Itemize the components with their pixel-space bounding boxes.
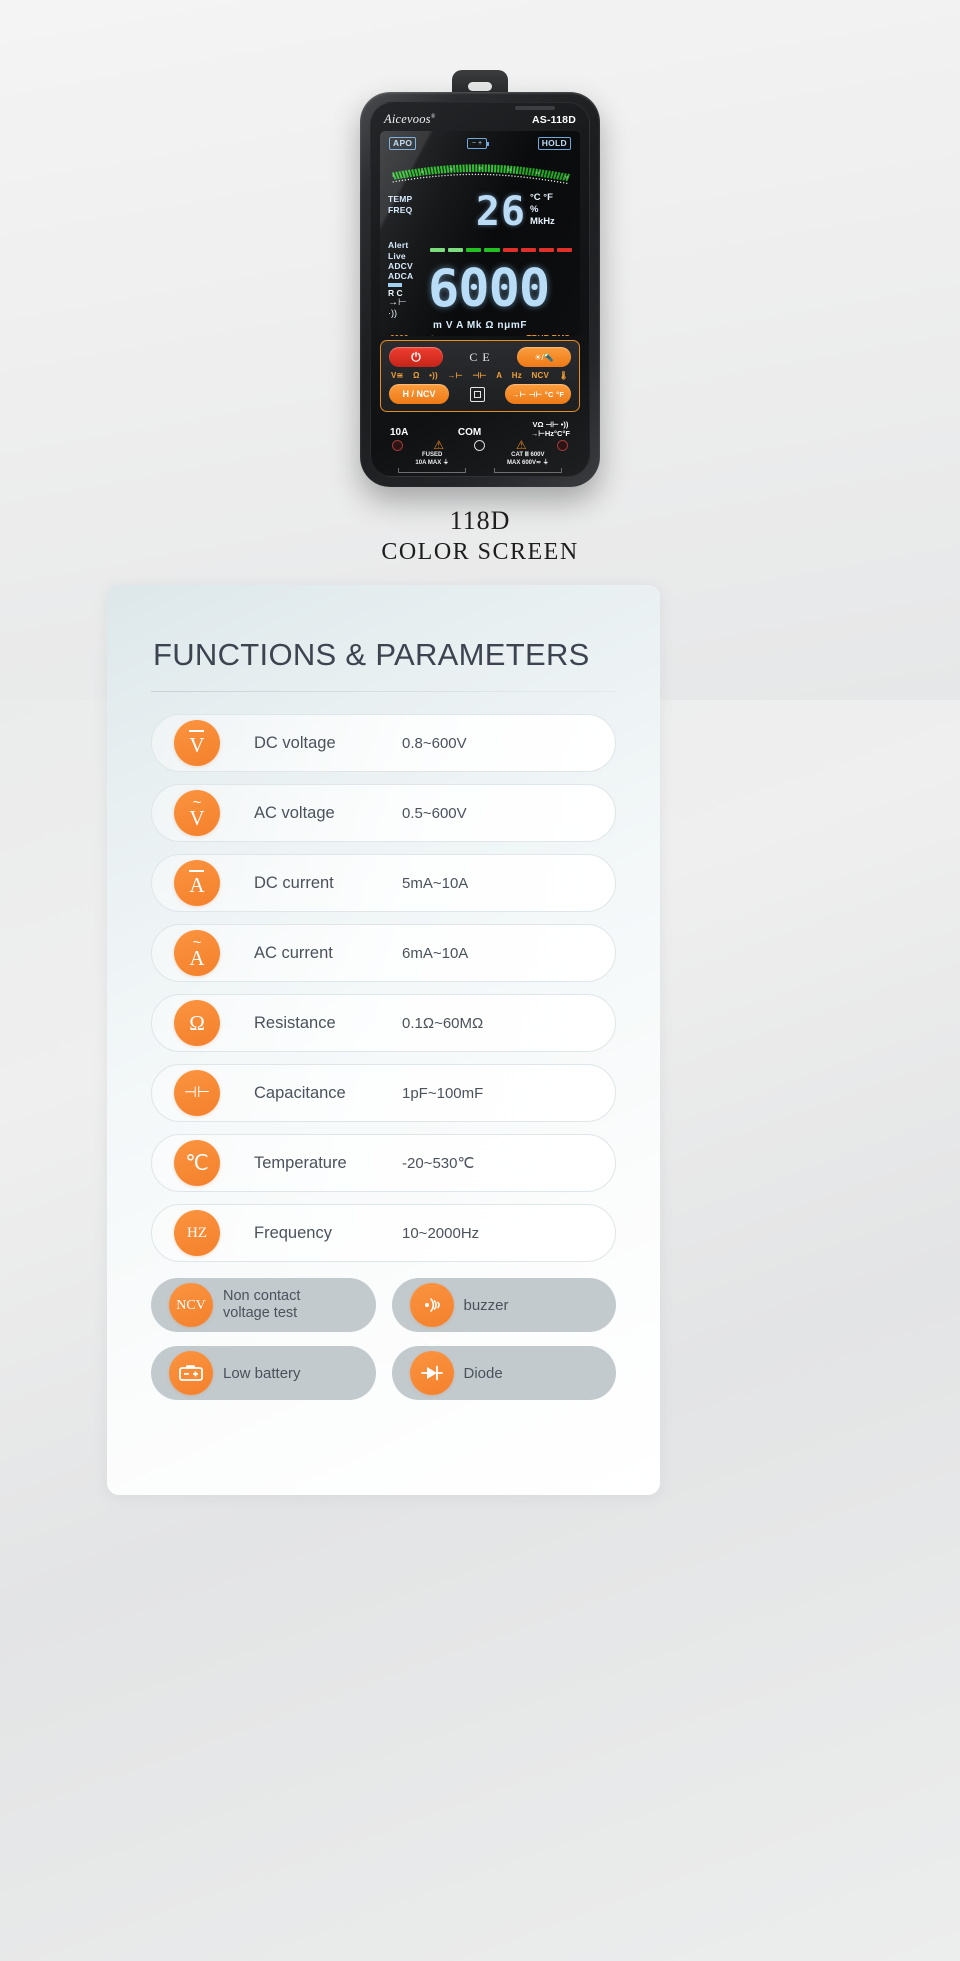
apo-badge: APO xyxy=(389,137,416,150)
function-row: ΩResistance0.1Ω~60MΩ xyxy=(151,994,616,1052)
icon-letter: V xyxy=(189,735,204,756)
jack-vohm[interactable] xyxy=(557,440,568,451)
icon-letter: A xyxy=(189,948,204,969)
function-value: 1pF~100mF xyxy=(402,1085,483,1102)
feature-chip-label: Non contactvoltage test xyxy=(223,1288,300,1322)
alert-label: Alert xyxy=(388,240,428,250)
warning-icon-left: ⚠ xyxy=(433,439,444,451)
buzzer-icon xyxy=(410,1283,454,1327)
legend-ncv: NCV xyxy=(532,371,550,380)
seg-5 xyxy=(503,248,518,252)
counts-label: 6000 counts xyxy=(390,334,438,336)
hold-badge: HOLD xyxy=(538,137,571,150)
temperature-icon: ℃ xyxy=(174,1140,220,1186)
chip-label-line-1: Non contact xyxy=(223,1288,300,1305)
seg-6 xyxy=(521,248,536,252)
freq-label: FREQ xyxy=(388,205,428,215)
feature-chip-label: buzzer xyxy=(464,1297,509,1314)
terminal-10a-label: 10A xyxy=(390,427,408,438)
feature-chip-label: Low battery xyxy=(223,1365,301,1382)
function-value: 5mA~10A xyxy=(402,875,468,892)
adcv-label: ADCV xyxy=(388,261,428,271)
capacitance-icon: ⊣⊢ xyxy=(174,1070,220,1116)
power-icon: ⏻ xyxy=(411,351,421,363)
feature-chip: Diode xyxy=(392,1346,617,1400)
adca-label: ADCA xyxy=(388,271,428,281)
bracket-right xyxy=(494,468,562,473)
warning-icon-right: ⚠ xyxy=(516,439,527,451)
bargraph-svg: 0102030405060 xyxy=(388,152,572,190)
terminal-note-left: FUSED 10A MAX ⏚ xyxy=(388,452,476,473)
select-square-button[interactable] xyxy=(470,387,485,402)
power-button[interactable]: ⏻ xyxy=(389,347,443,367)
legend-ampere: A xyxy=(496,371,502,380)
function-row: ~VAC voltage0.5~600V xyxy=(151,784,616,842)
battery-plus: + xyxy=(478,140,482,147)
max-10a-label: 10A MAX ⏚ xyxy=(388,460,476,468)
buzzer-indicator-icon: ·)) xyxy=(388,308,428,318)
square-inner-icon xyxy=(474,391,481,398)
feature-chip-grid: NCVNon contactvoltage testbuzzerLow batt… xyxy=(151,1278,616,1400)
function-name: DC voltage xyxy=(254,734,402,753)
legend-hz: Hz xyxy=(512,371,522,380)
function-value: 0.1Ω~60MΩ xyxy=(402,1015,483,1032)
frequency-icon: HZ xyxy=(174,1210,220,1256)
function-name: Temperature xyxy=(254,1154,402,1173)
resistance-icon: Ω xyxy=(174,1000,220,1046)
terminal-note-right: CAT Ⅲ 600V MAX 600V≂ ⏚ xyxy=(484,452,572,473)
function-name: AC current xyxy=(254,944,402,963)
icon-letter: NCV xyxy=(176,1295,206,1316)
rc-label: R C xyxy=(388,288,428,298)
secondary-units: °C °F % MkHz xyxy=(530,190,572,228)
terminal-com-label: COM xyxy=(458,427,481,438)
svg-text:20: 20 xyxy=(449,167,453,171)
main-reading-row: ADCV ADCA R C →⊢ ·)) 6000 xyxy=(386,261,574,319)
terminal-section: 10A COM VΩ ⊣⊢ •)) →⊢Hz°C°F ⚠ ⚠ xyxy=(380,420,580,473)
feature-chip: NCVNon contactvoltage test xyxy=(151,1278,376,1332)
function-row: ℃Temperature-20~530℃ xyxy=(151,1134,616,1192)
icon-letter: A xyxy=(189,875,204,896)
mode-button[interactable]: →⊢ ⊣⊢ °C °F xyxy=(505,384,571,404)
ac-current-icon: ~A xyxy=(174,930,220,976)
svg-text:60: 60 xyxy=(565,175,569,179)
temp-label: TEMP xyxy=(388,194,428,204)
function-value: -20~530℃ xyxy=(402,1154,474,1172)
function-name: DC current xyxy=(254,874,402,893)
alert-segment-bars xyxy=(428,246,574,255)
lcd-left-labels-lower: ADCV ADCA R C →⊢ ·)) xyxy=(388,261,428,318)
function-name: Frequency xyxy=(254,1224,402,1243)
chip-label-line-1: buzzer xyxy=(464,1297,509,1314)
speaker-slot-icon xyxy=(515,106,555,110)
caption-model: 118D xyxy=(0,505,960,537)
terminal-vohm-bottom: →⊢Hz°C°F xyxy=(531,429,570,438)
function-value: 0.8~600V xyxy=(402,735,467,752)
function-row: ADC current5mA~10A xyxy=(151,854,616,912)
brand-name: Aicevoos® xyxy=(384,112,435,127)
lcd-top-indicators: APO − + HOLD xyxy=(386,136,574,151)
svg-text:50: 50 xyxy=(536,171,540,175)
secondary-reading-row: TEMP FREQ 26 °C °F % MkHz xyxy=(386,190,574,240)
icon-letter: V xyxy=(189,808,204,829)
lcd-left-labels-upper: TEMP FREQ xyxy=(388,190,428,215)
bracket-left xyxy=(398,468,466,473)
live-label: Live xyxy=(388,251,428,261)
function-value: 0.5~600V xyxy=(402,805,467,822)
seg-1 xyxy=(430,248,445,252)
chip-label-line-1: Diode xyxy=(464,1365,503,1382)
diode-icon xyxy=(410,1351,454,1395)
hold-ncv-button[interactable]: H / NCV xyxy=(389,384,449,404)
brand-row: Aicevoos® AS-118D xyxy=(380,110,580,131)
function-name: AC voltage xyxy=(254,804,402,823)
multimeter-body: Aicevoos® AS-118D APO − + HOLD xyxy=(360,92,600,487)
terminal-labels: 10A COM VΩ ⊣⊢ •)) →⊢Hz°C°F xyxy=(384,420,576,439)
button-row-bottom: H / NCV →⊢ ⊣⊢ °C °F xyxy=(389,384,571,404)
button-row-top: ⏻ C E ☀/🔦 xyxy=(389,347,571,367)
feature-chip-label: Diode xyxy=(464,1365,503,1382)
caption-subtitle: COLOR SCREEN xyxy=(0,537,960,567)
seg-3 xyxy=(466,248,481,252)
max-600v-label: MAX 600V≂ ⏚ xyxy=(484,460,572,468)
title-divider xyxy=(151,691,616,692)
dc-bar-icon xyxy=(189,870,204,872)
legend-ohm: Ω xyxy=(413,371,420,380)
backlight-torch-button[interactable]: ☀/🔦 xyxy=(517,347,571,367)
fused-label: FUSED xyxy=(388,452,476,460)
icon-letter: ⊣⊢ xyxy=(184,1083,210,1104)
terminal-vohm-top: VΩ ⊣⊢ •)) xyxy=(531,420,570,429)
function-legend-strip: V≅ Ω •)) →⊢ ⊣⊢ A Hz NCV 🌡 xyxy=(389,367,571,384)
torch-icon: ☀/🔦 xyxy=(534,353,553,362)
model-number: AS-118D xyxy=(532,114,576,126)
button-panel: ⏻ C E ☀/🔦 V≅ Ω •)) →⊢ ⊣⊢ A xyxy=(380,340,580,412)
functions-parameters-card: FUNCTIONS & PARAMETERS VDC voltage0.8~60… xyxy=(107,585,660,1495)
svg-text:0: 0 xyxy=(392,174,394,178)
analog-bargraph: 0102030405060 xyxy=(388,152,572,190)
unit-mkhz: MkHz xyxy=(530,216,555,228)
dc-bar-icon xyxy=(189,730,204,732)
product-device: Aicevoos® AS-118D APO − + HOLD xyxy=(360,92,600,487)
lcd-alert-labels: Alert Live xyxy=(388,240,428,261)
icon-letter: Ω xyxy=(189,1013,205,1034)
function-row: VDC voltage0.8~600V xyxy=(151,714,616,772)
unit-percent: % xyxy=(530,204,538,216)
seg-2 xyxy=(448,248,463,252)
jack-10a[interactable] xyxy=(392,440,403,451)
main-reading: 6000 xyxy=(428,261,572,317)
feature-chip: buzzer xyxy=(392,1278,617,1332)
function-name: Capacitance xyxy=(254,1084,402,1103)
unit-celsius-fahrenheit: °C °F xyxy=(530,192,553,204)
lcd-units-row: m V A Mk Ω nμmF xyxy=(386,319,574,331)
chip-label-line-2: voltage test xyxy=(223,1305,300,1322)
function-row: ~AAC current6mA~10A xyxy=(151,924,616,982)
icon-letter: ℃ xyxy=(185,1153,209,1174)
registered-mark: ® xyxy=(431,114,436,120)
legend-diode: →⊢ xyxy=(447,371,462,380)
battery-minus: − xyxy=(472,140,476,147)
function-value: 6mA~10A xyxy=(402,945,468,962)
chip-label-line-1: Low battery xyxy=(223,1365,301,1382)
legend-temp: 🌡 xyxy=(559,371,569,380)
ce-mark-icon: C E xyxy=(469,350,490,365)
svg-text:40: 40 xyxy=(507,168,511,172)
lcd-bottom-row: 6000 counts TRUE RMS xyxy=(386,331,574,336)
battery-icon: − + xyxy=(467,138,487,149)
dc-voltage-icon: V xyxy=(174,720,220,766)
ncv-icon: NCV xyxy=(169,1283,213,1327)
functions-row-list: VDC voltage0.8~600V~VAC voltage0.5~600VA… xyxy=(151,714,616,1262)
function-value: 10~2000Hz xyxy=(402,1225,479,1242)
svg-text:30: 30 xyxy=(478,166,482,170)
dc-current-icon: A xyxy=(174,860,220,906)
true-rms-label: TRUE RMS xyxy=(527,334,570,336)
legend-continuity: •)) xyxy=(429,371,438,380)
legend-voltage: V≅ xyxy=(391,371,403,380)
legend-capacitance: ⊣⊢ xyxy=(472,371,486,380)
hanger-hole xyxy=(468,82,492,91)
diode-indicator-icon: →⊢ xyxy=(388,298,428,308)
secondary-reading: 26 xyxy=(428,190,530,234)
seg-8 xyxy=(557,248,572,252)
multimeter-face: Aicevoos® AS-118D APO − + HOLD xyxy=(370,102,590,477)
function-row: ⊣⊢Capacitance1pF~100mF xyxy=(151,1064,616,1122)
cat-rating-label: CAT Ⅲ 600V xyxy=(484,452,572,460)
terminal-notes: FUSED 10A MAX ⏚ CAT Ⅲ 600V MAX 600V≂ ⏚ xyxy=(384,451,576,473)
dc-dash-icon xyxy=(388,283,402,287)
functions-title: FUNCTIONS & PARAMETERS xyxy=(151,637,616,673)
function-name: Resistance xyxy=(254,1014,402,1033)
product-caption: 118D COLOR SCREEN xyxy=(0,505,960,567)
seg-4 xyxy=(484,248,499,252)
lcd-screen: APO − + HOLD 0102030405060 xyxy=(380,131,580,336)
ac-voltage-icon: ~V xyxy=(174,790,220,836)
icon-letter: HZ xyxy=(187,1223,207,1244)
battery-icon xyxy=(169,1351,213,1395)
jack-com[interactable] xyxy=(474,440,485,451)
seg-7 xyxy=(539,248,554,252)
terminal-vohm-label: VΩ ⊣⊢ •)) →⊢Hz°C°F xyxy=(531,420,570,438)
terminal-jacks: ⚠ ⚠ xyxy=(384,439,576,451)
brand-text: Aicevoos xyxy=(384,112,431,126)
svg-text:10: 10 xyxy=(421,170,425,174)
function-row: HZFrequency10~2000Hz xyxy=(151,1204,616,1262)
feature-chip: Low battery xyxy=(151,1346,376,1400)
